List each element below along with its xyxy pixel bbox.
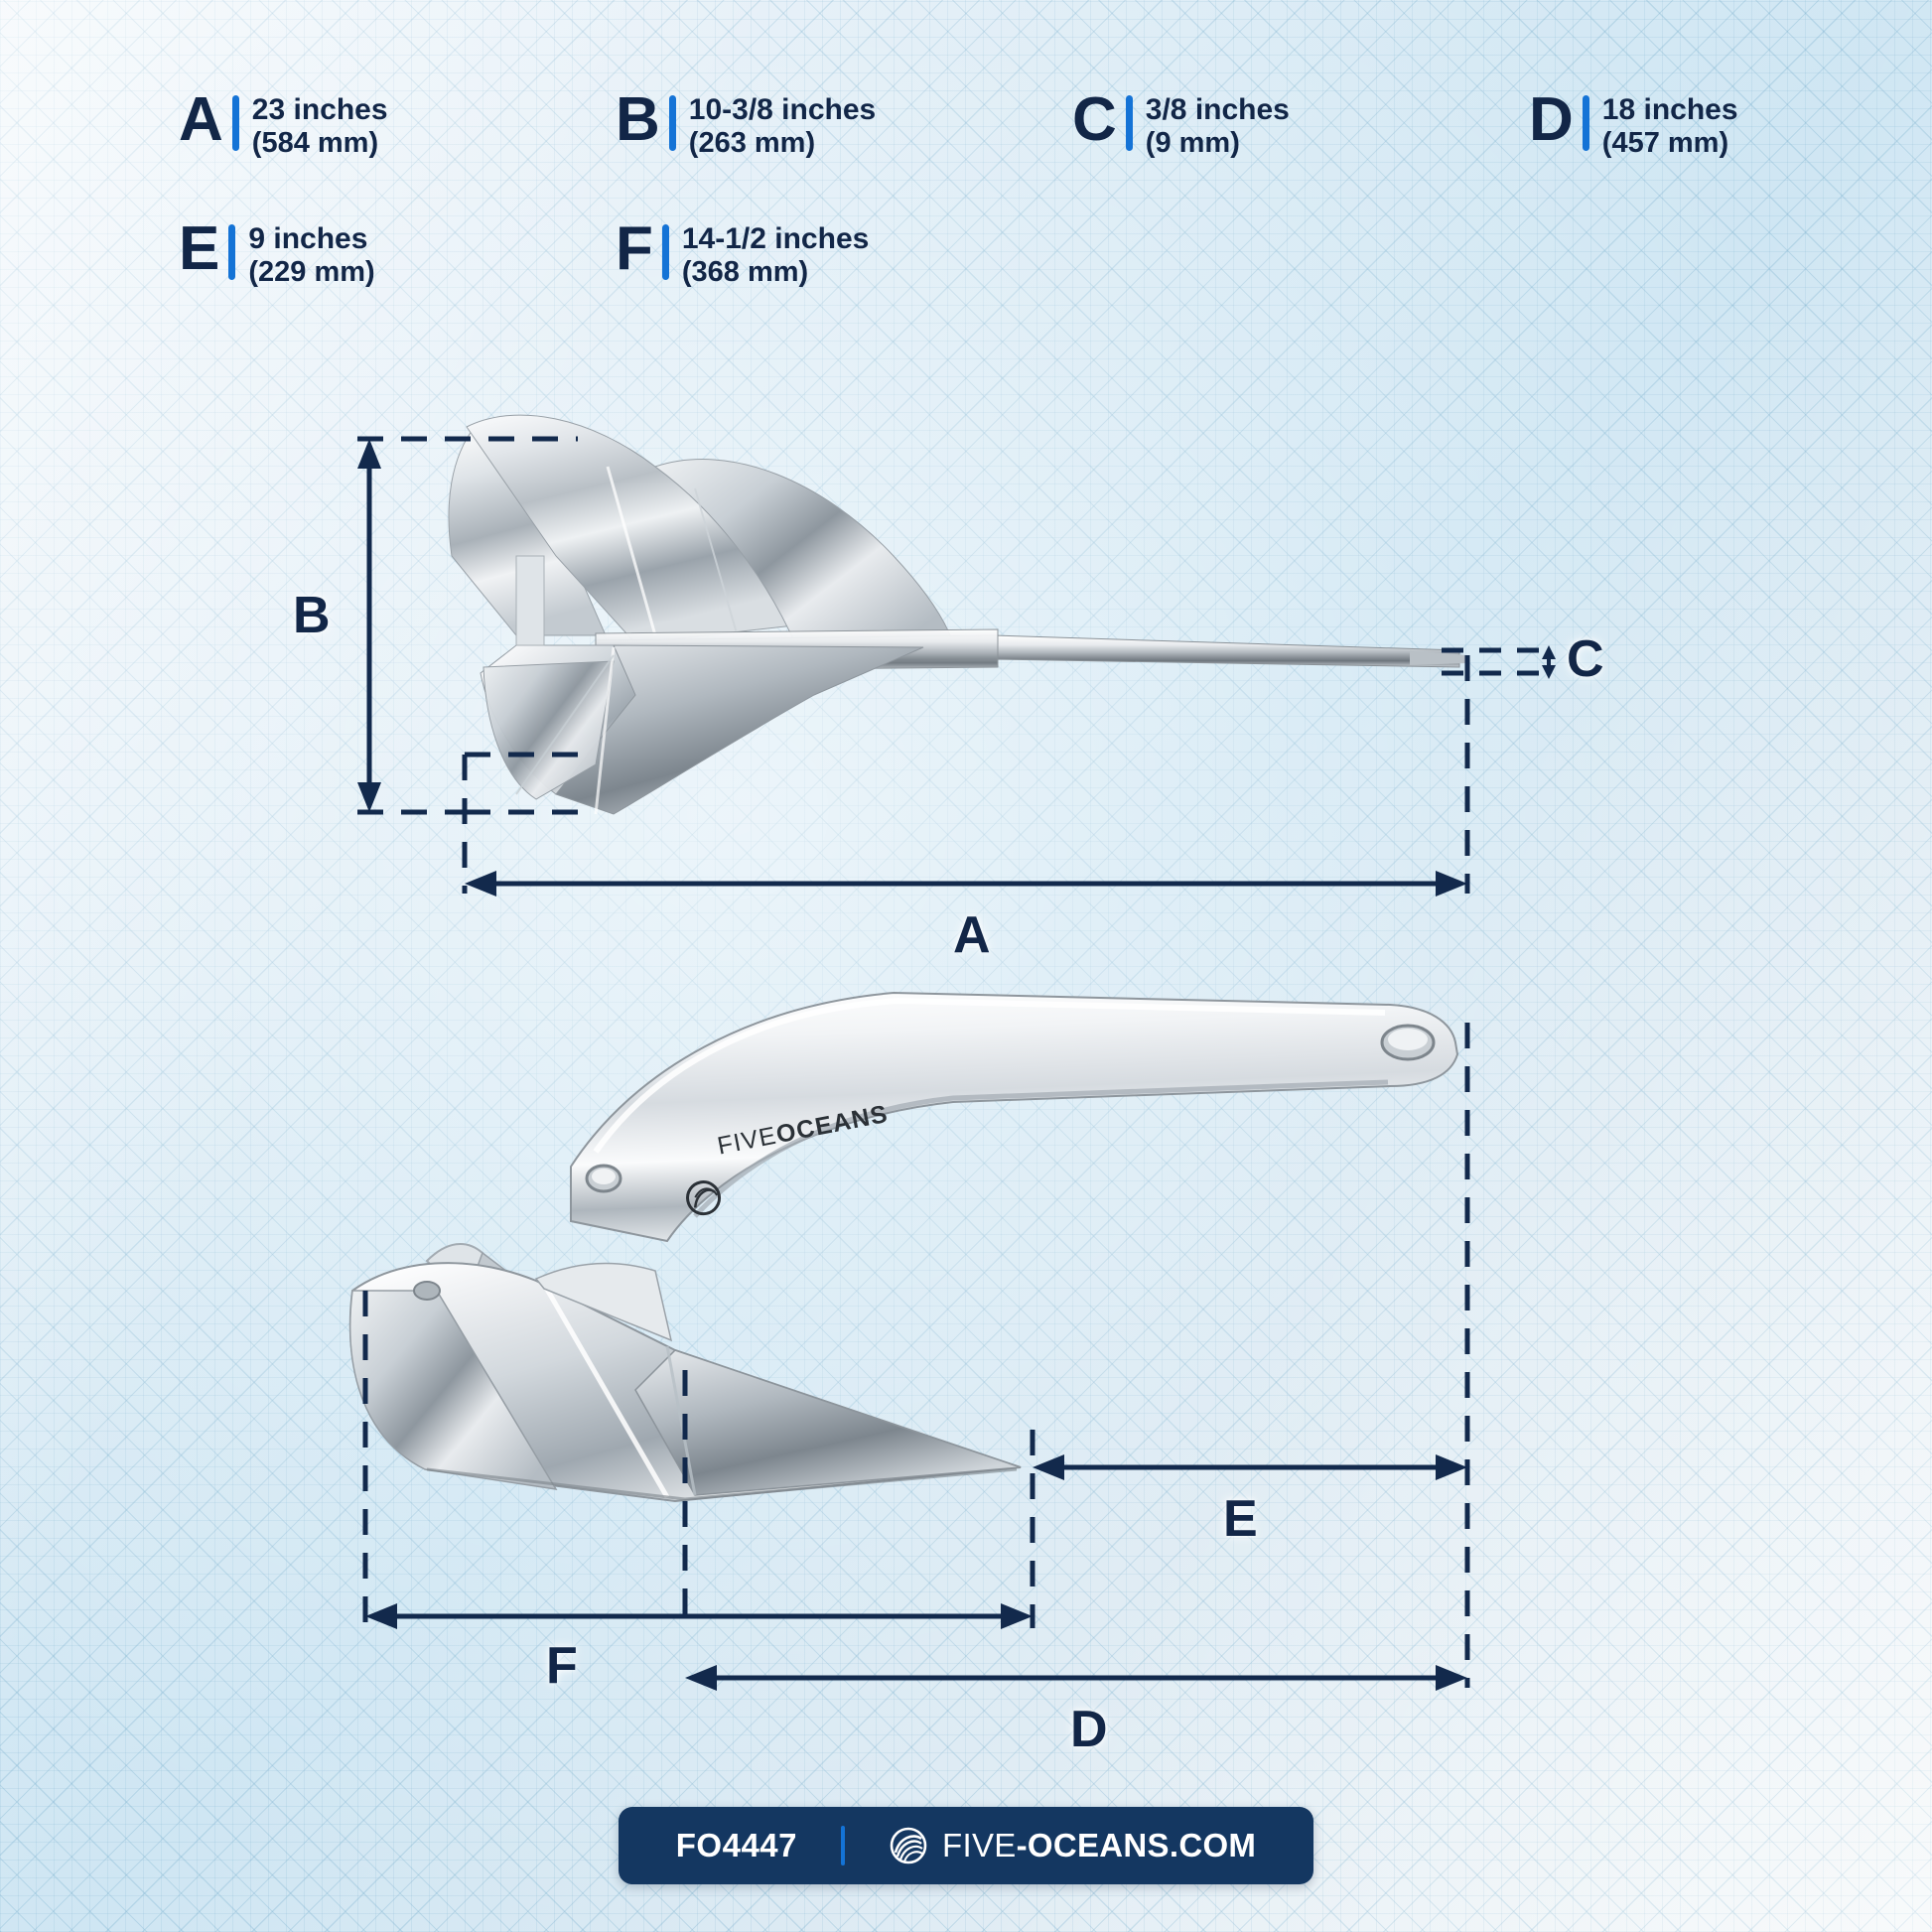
top-view-dimension-lines bbox=[357, 439, 1556, 897]
footer-brand-thin: FIVE bbox=[942, 1827, 1017, 1863]
footer-sku: FO4447 bbox=[621, 1827, 841, 1864]
legend-item-a: A 23 inches (584 mm) bbox=[179, 91, 388, 160]
legend-letter-e: E bbox=[179, 220, 218, 277]
legend-mm-e: (229 mm) bbox=[248, 256, 374, 289]
legend-inches-b: 10-3/8 inches bbox=[689, 93, 876, 127]
shell-logo-icon bbox=[889, 1826, 928, 1865]
dimension-label-d: D bbox=[1070, 1700, 1108, 1759]
legend-divider-c bbox=[1126, 95, 1133, 151]
legend-divider-f bbox=[662, 224, 669, 280]
legend-inches-c: 3/8 inches bbox=[1146, 93, 1290, 127]
legend-divider-d bbox=[1583, 95, 1589, 151]
legend-divider-b bbox=[669, 95, 676, 151]
legend-inches-f: 14-1/2 inches bbox=[682, 222, 869, 256]
legend-item-d: D 18 inches (457 mm) bbox=[1529, 91, 1738, 160]
footer-badge: FO4447 FIVE-OCEANS.COM bbox=[619, 1807, 1313, 1884]
legend-item-f: F 14-1/2 inches (368 mm) bbox=[616, 220, 869, 289]
dimension-label-b: B bbox=[293, 586, 331, 645]
dimension-label-c: C bbox=[1567, 629, 1604, 689]
legend-letter-d: D bbox=[1529, 91, 1573, 148]
anchor-top-view bbox=[449, 415, 1467, 814]
legend-inches-e: 9 inches bbox=[248, 222, 374, 256]
footer-brand-text: FIVE-OCEANS.COM bbox=[942, 1827, 1256, 1864]
legend-mm-f: (368 mm) bbox=[682, 256, 869, 289]
legend-mm-d: (457 mm) bbox=[1602, 127, 1738, 160]
legend-item-b: B 10-3/8 inches (263 mm) bbox=[616, 91, 876, 160]
legend-divider-a bbox=[232, 95, 239, 151]
legend-mm-c: (9 mm) bbox=[1146, 127, 1290, 160]
legend-item-e: E 9 inches (229 mm) bbox=[179, 220, 375, 289]
dimension-label-f: F bbox=[546, 1636, 578, 1696]
dimension-legend: A 23 inches (584 mm) B 10-3/8 inches (26… bbox=[0, 0, 1932, 328]
dimension-label-a: A bbox=[953, 905, 991, 965]
legend-item-c: C 3/8 inches (9 mm) bbox=[1072, 91, 1290, 160]
svg-text:FIVEOCEANS: FIVEOCEANS bbox=[715, 1100, 891, 1161]
dimension-label-e: E bbox=[1223, 1489, 1258, 1549]
product-engraving: FIVEOCEANS bbox=[676, 1100, 899, 1217]
product-dimension-diagram: A 23 inches (584 mm) B 10-3/8 inches (26… bbox=[0, 0, 1932, 1932]
legend-inches-a: 23 inches bbox=[252, 93, 388, 127]
anchor-side-view bbox=[350, 993, 1457, 1501]
legend-letter-a: A bbox=[179, 91, 222, 148]
side-view-dimension-lines bbox=[365, 1023, 1467, 1691]
legend-letter-f: F bbox=[616, 220, 652, 277]
legend-divider-e bbox=[228, 224, 235, 280]
legend-inches-d: 18 inches bbox=[1602, 93, 1738, 127]
legend-letter-b: B bbox=[616, 91, 659, 148]
legend-mm-b: (263 mm) bbox=[689, 127, 876, 160]
footer-brand-bold: -OCEANS.COM bbox=[1017, 1827, 1257, 1863]
legend-mm-a: (584 mm) bbox=[252, 127, 388, 160]
legend-letter-c: C bbox=[1072, 91, 1116, 148]
